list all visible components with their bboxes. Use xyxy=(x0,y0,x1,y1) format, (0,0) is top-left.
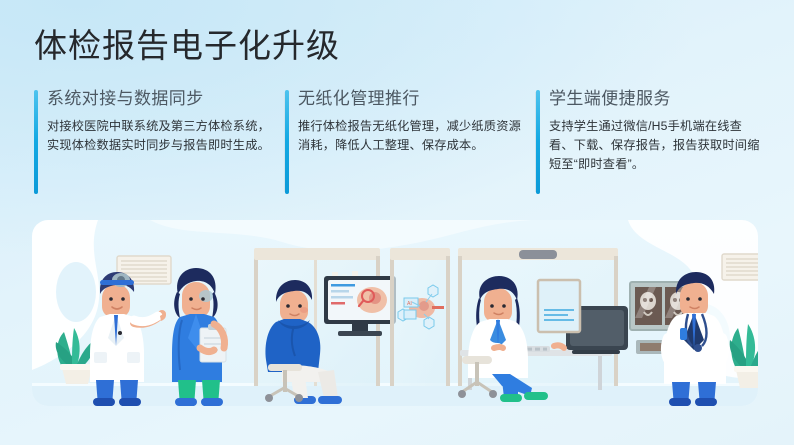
notice-board xyxy=(538,280,580,332)
accent-bar-icon xyxy=(34,90,38,194)
accent-bar-icon xyxy=(536,90,540,194)
feature-body-1: 对接校医院中联系统及第三方体检系统，实现体检数据实时同步与报告即时生成。 xyxy=(47,117,272,155)
slide-root: 体检报告电子化升级 系统对接与数据同步 对接校医院中联系统及第三方体检系统，实现… xyxy=(0,0,794,445)
hospital-clinic-illustration: AI xyxy=(32,220,758,406)
wall-vent-icon xyxy=(722,254,758,280)
illustration-card: AI xyxy=(32,220,758,406)
feature-heading-3: 学生端便捷服务 xyxy=(549,88,760,110)
feature-columns: 系统对接与数据同步 对接校医院中联系统及第三方体检系统，实现体检数据实时同步与报… xyxy=(34,88,760,196)
feature-body-3: 支持学生通过微信/H5手机端在线查看、下载、保存报告，报告获取时间缩短至“即时查… xyxy=(549,117,761,174)
page-title: 体检报告电子化升级 xyxy=(34,26,340,68)
feature-column-2: 无纸化管理推行 推行体检报告无纸化管理，减少纸质资源消耗，降低人工整理、保存成本… xyxy=(285,88,536,196)
feature-column-3: 学生端便捷服务 支持学生通过微信/H5手机端在线查看、下载、保存报告，报告获取时… xyxy=(536,88,760,196)
feature-heading-2: 无纸化管理推行 xyxy=(298,88,536,110)
svg-text:AI: AI xyxy=(407,301,412,307)
feature-heading-1: 系统对接与数据同步 xyxy=(47,88,285,110)
feature-column-1: 系统对接与数据同步 对接校医院中联系统及第三方体检系统，实现体检数据实时同步与报… xyxy=(34,88,285,196)
feature-body-2: 推行体检报告无纸化管理，减少纸质资源消耗，降低人工整理、保存成本。 xyxy=(298,117,523,155)
accent-bar-icon xyxy=(285,90,289,194)
